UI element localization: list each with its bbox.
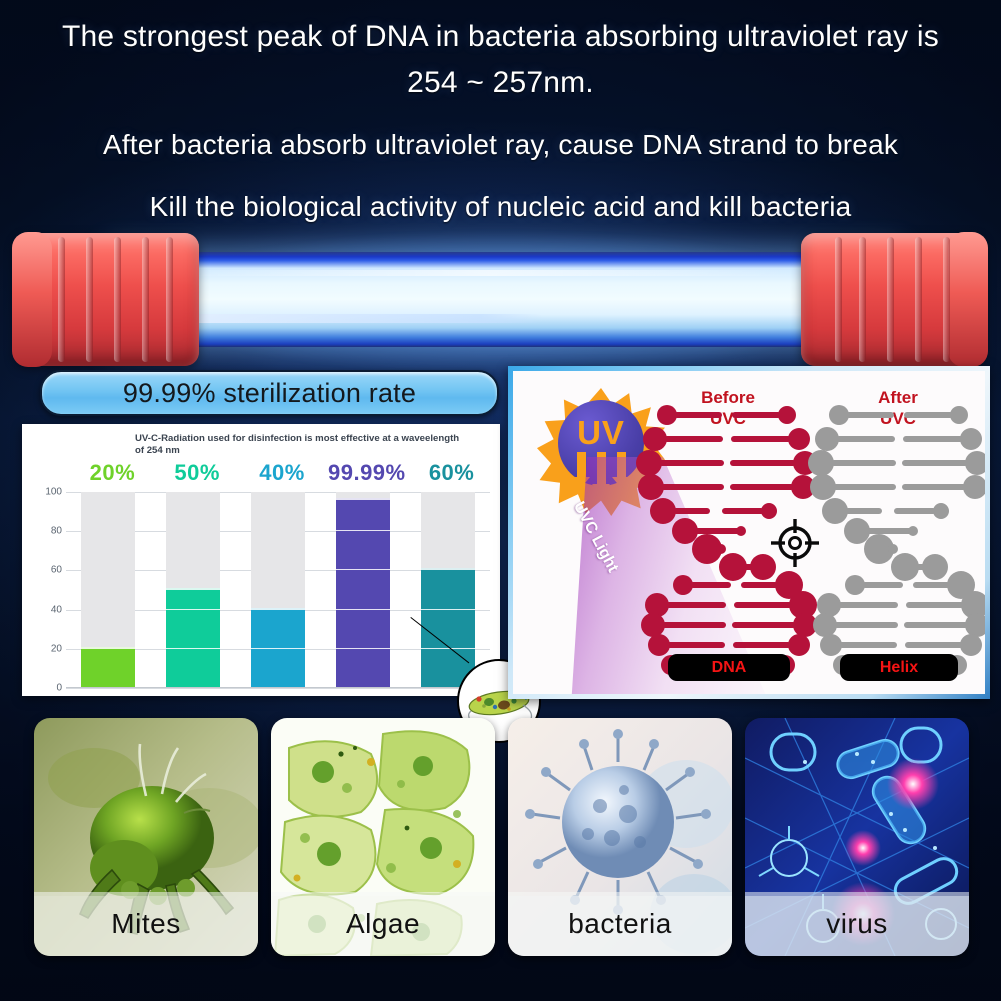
lamp-rib [915, 237, 922, 362]
lamp-tube-highlight [169, 270, 809, 276]
card-algae-label: Algae [271, 892, 495, 956]
chart-bar-column [81, 492, 135, 688]
uvc-lamp-product-image [14, 233, 986, 366]
sterilization-rate-banner: 99.99% sterilization rate [40, 370, 499, 416]
chart-bars [66, 492, 490, 688]
card-virus[interactable]: virus [745, 718, 969, 956]
chart-subtitle: UV-C-Radiation used for disinfection is … [135, 433, 465, 457]
card-algae[interactable]: Algae [271, 718, 495, 956]
microbe-callout [411, 617, 415, 621]
infographic-root: The strongest peak of DNA in bacteria ab… [0, 0, 1001, 1001]
dna-strand-after [808, 405, 985, 675]
dna-panel-inner: UV UVC Light Before UVC After UVC [513, 371, 985, 694]
before-uvc-title: Before UVC [663, 387, 793, 429]
headline-line-3: After bacteria absorb ultraviolet ray, c… [0, 122, 1001, 168]
lamp-rib [86, 237, 93, 362]
chart-bar-segment-line [421, 648, 475, 649]
chart-y-tick: 60 [51, 565, 62, 576]
lamp-cap-left [14, 233, 199, 366]
chart-gridline [66, 688, 490, 689]
chart-bar-segment-line [336, 609, 390, 610]
sterilization-rate-label: 99.99% sterilization rate [123, 378, 416, 409]
uv-arrow-shaft [577, 452, 586, 478]
chart-y-tick: 100 [45, 487, 62, 498]
chart-bar-column [421, 492, 475, 688]
chart-data-label: 50% [158, 460, 236, 486]
chart-bar-segment-line [166, 648, 220, 649]
lamp-rib [58, 237, 65, 362]
chart-bar-column [336, 492, 390, 688]
chart-bar [251, 608, 305, 688]
dna-comparison-panel: UV UVC Light Before UVC After UVC [508, 366, 990, 699]
chart-bar-segment-line [251, 648, 305, 649]
chart-bar-segment-line [166, 609, 220, 610]
chart-bar [166, 588, 220, 688]
card-mites[interactable]: Mites [34, 718, 258, 956]
chart-bar-segment-line [336, 569, 390, 570]
after-uvc-title: After UVC [833, 387, 963, 429]
chart-bar-column [166, 492, 220, 688]
card-virus-label: virus [745, 892, 969, 956]
chart-bar [336, 498, 390, 688]
dna-badge: DNA [668, 654, 790, 681]
lamp-rib [835, 237, 842, 362]
card-bacteria-label: bacteria [508, 892, 732, 956]
sterilization-bar-chart: UV-C-Radiation used for disinfection is … [22, 424, 500, 696]
lamp-rib [166, 237, 173, 362]
chart-y-tick: 0 [56, 683, 62, 694]
helix-badge: Helix [840, 654, 958, 681]
uv-label: UV [537, 414, 665, 452]
headline-line-2: 254 ~ 257nm. [0, 60, 1001, 106]
headline-line-1: The strongest peak of DNA in bacteria ab… [0, 14, 1001, 60]
chart-data-labels: 20%50%40%99.99%60% [70, 460, 490, 488]
chart-y-tick: 80 [51, 526, 62, 537]
lamp-rib [859, 237, 866, 362]
microorganism-card-row: Mites [20, 718, 982, 958]
chart-bar-segment-line [421, 609, 475, 610]
lamp-rib [142, 237, 149, 362]
chart-data-label: 60% [413, 460, 491, 486]
chart-bar [421, 568, 475, 688]
chart-axis-baseline [66, 687, 490, 688]
chart-bar-column [251, 492, 305, 688]
target-crosshair-icon [771, 519, 819, 567]
chart-data-label: 20% [73, 460, 151, 486]
chart-bar-segment-line [336, 530, 390, 531]
headline-block: The strongest peak of DNA in bacteria ab… [0, 14, 1001, 230]
lamp-cap-right [801, 233, 986, 366]
lamp-rib [943, 237, 950, 362]
chart-y-tick: 20 [51, 643, 62, 654]
chart-data-label: 99.99% [328, 460, 406, 486]
lamp-cap-left-end [12, 232, 52, 367]
chart-y-tick: 40 [51, 604, 62, 615]
chart-bar-segment-line [336, 648, 390, 649]
chart-y-axis: 020406080100 [26, 492, 62, 688]
lamp-rib [887, 237, 894, 362]
chart-data-label: 40% [243, 460, 321, 486]
lamp-rib [114, 237, 121, 362]
card-mites-label: Mites [34, 892, 258, 956]
card-bacteria[interactable]: bacteria [508, 718, 732, 956]
lamp-tube [109, 252, 899, 347]
chart-bar [81, 647, 135, 688]
chart-plot-area: 020406080100 [66, 492, 490, 688]
lamp-cap-right-end [948, 232, 988, 367]
